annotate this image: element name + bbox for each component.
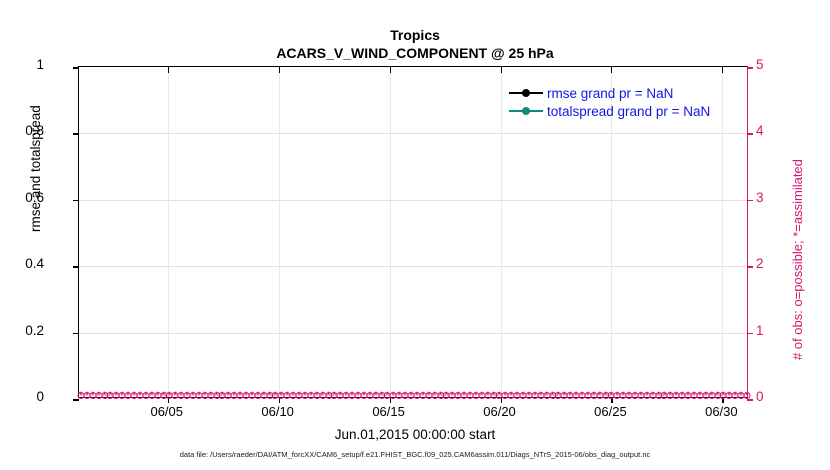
obs-assimilated-marker: * (295, 391, 304, 402)
obs-possible-marker (243, 392, 250, 399)
obs-assimilated-marker: * (560, 391, 569, 402)
obs-possible-marker (360, 392, 367, 399)
obs-possible-marker (95, 392, 102, 399)
obs-possible-marker (290, 392, 297, 399)
obs-assimilated-marker: * (289, 391, 298, 402)
obs-possible-marker (195, 392, 202, 399)
obs-assimilated-marker: * (194, 391, 203, 402)
obs-possible-marker (443, 392, 450, 399)
obs-assimilated-marker: * (572, 391, 581, 402)
obs-assimilated-marker: * (548, 391, 557, 402)
right-tick-mark (747, 333, 753, 335)
obs-possible-marker (573, 392, 580, 399)
obs-assimilated-marker: * (489, 391, 498, 402)
left-tick-mark (73, 399, 79, 401)
obs-assimilated-marker: * (654, 391, 663, 402)
obs-assimilated-marker: * (424, 391, 433, 402)
obs-possible-marker (189, 392, 196, 399)
obs-assimilated-marker: * (542, 391, 551, 402)
obs-possible-marker (154, 392, 161, 399)
obs-possible-marker (225, 392, 232, 399)
obs-possible-marker (172, 392, 179, 399)
left-tick-label: 0.4 (25, 256, 44, 271)
obs-assimilated-marker: * (100, 391, 109, 402)
obs-possible-marker (449, 392, 456, 399)
obs-possible-marker (567, 392, 574, 399)
obs-assimilated-marker: * (300, 391, 309, 402)
obs-possible-marker (337, 392, 344, 399)
obs-assimilated-marker: * (141, 391, 150, 402)
obs-assimilated-marker: * (253, 391, 262, 402)
x-tick-label: 06/10 (261, 404, 294, 419)
obs-assimilated-marker: * (477, 391, 486, 402)
obs-possible-marker (738, 392, 745, 399)
obs-possible-marker (649, 392, 656, 399)
obs-assimilated-marker: * (501, 391, 510, 402)
right-tick-label: 2 (756, 256, 764, 271)
obs-possible-marker (113, 392, 120, 399)
legend-label: totalspread grand pr = NaN (547, 104, 710, 119)
obs-assimilated-marker: * (177, 391, 186, 402)
x-tick-mark-top (501, 67, 502, 73)
obs-possible-marker (478, 392, 485, 399)
obs-assimilated-marker: * (312, 391, 321, 402)
obs-possible-marker (266, 392, 273, 399)
right-axis-title: # of obs: o=possible; *=assimilated (790, 159, 805, 360)
gridline (279, 67, 280, 397)
obs-assimilated-marker: * (507, 391, 516, 402)
obs-assimilated-marker: * (519, 391, 528, 402)
obs-assimilated-marker: * (418, 391, 427, 402)
obs-possible-marker (136, 392, 143, 399)
right-tick-label: 1 (756, 323, 764, 338)
obs-possible-marker (696, 392, 703, 399)
obs-possible-marker (213, 392, 220, 399)
obs-possible-marker (543, 392, 550, 399)
obs-assimilated-marker: * (206, 391, 215, 402)
obs-possible-marker (248, 392, 255, 399)
x-tick-label: 06/15 (372, 404, 405, 419)
obs-assimilated-marker: * (465, 391, 474, 402)
obs-assimilated-marker: * (359, 391, 368, 402)
x-tick-mark-top (168, 67, 169, 73)
obs-possible-marker (78, 392, 85, 399)
obs-possible-marker (301, 392, 308, 399)
obs-possible-marker (319, 392, 326, 399)
obs-assimilated-marker: * (577, 391, 586, 402)
data-file-footer: data file: /Users/raeder/DAI/ATM_forcXX/… (0, 450, 830, 459)
obs-possible-marker (148, 392, 155, 399)
left-tick-mark (73, 333, 79, 335)
obs-assimilated-marker: * (619, 391, 628, 402)
obs-possible-marker (402, 392, 409, 399)
obs-assimilated-marker: * (589, 391, 598, 402)
x-tick-label: 06/20 (483, 404, 516, 419)
obs-assimilated-marker: * (147, 391, 156, 402)
obs-assimilated-marker: * (153, 391, 162, 402)
obs-possible-marker (372, 392, 379, 399)
obs-possible-marker (331, 392, 338, 399)
obs-possible-marker (549, 392, 556, 399)
obs-possible-marker (667, 392, 674, 399)
obs-assimilated-marker: * (689, 391, 698, 402)
obs-possible-marker (408, 392, 415, 399)
obs-possible-marker (219, 392, 226, 399)
obs-assimilated-marker: * (601, 391, 610, 402)
obs-possible-marker (596, 392, 603, 399)
obs-possible-marker (466, 392, 473, 399)
obs-possible-marker (555, 392, 562, 399)
obs-assimilated-marker: * (265, 391, 274, 402)
legend-item[interactable]: totalspread grand pr = NaN (509, 102, 745, 120)
obs-assimilated-marker: * (407, 391, 416, 402)
obs-assimilated-marker: * (324, 391, 333, 402)
obs-possible-marker (531, 392, 538, 399)
obs-possible-marker (207, 392, 214, 399)
obs-possible-marker (637, 392, 644, 399)
x-tick-mark (279, 397, 281, 403)
obs-possible-marker (673, 392, 680, 399)
obs-assimilated-marker: * (412, 391, 421, 402)
obs-possible-marker (184, 392, 191, 399)
obs-assimilated-marker: * (230, 391, 239, 402)
x-tick-mark (390, 397, 392, 403)
obs-possible-marker (413, 392, 420, 399)
obs-possible-marker (160, 392, 167, 399)
obs-possible-marker (702, 392, 709, 399)
obs-assimilated-marker: * (460, 391, 469, 402)
obs-assimilated-marker: * (236, 391, 245, 402)
obs-possible-marker (632, 392, 639, 399)
obs-possible-marker (661, 392, 668, 399)
obs-possible-marker (520, 392, 527, 399)
obs-assimilated-marker: * (135, 391, 144, 402)
obs-possible-marker (590, 392, 597, 399)
obs-possible-marker (419, 392, 426, 399)
obs-possible-marker (313, 392, 320, 399)
obs-possible-marker (455, 392, 462, 399)
obs-assimilated-marker: * (354, 391, 363, 402)
obs-assimilated-marker: * (130, 391, 139, 402)
obs-possible-marker (237, 392, 244, 399)
obs-possible-marker (461, 392, 468, 399)
obs-assimilated-marker: * (306, 391, 315, 402)
chart-title-region: Tropics (0, 26, 830, 44)
x-tick-mark (501, 397, 503, 403)
obs-assimilated-marker: * (106, 391, 115, 402)
obs-assimilated-marker: * (536, 391, 545, 402)
obs-assimilated-marker: * (88, 391, 97, 402)
gridline (501, 67, 502, 397)
obs-assimilated-marker: * (583, 391, 592, 402)
left-tick-mark (73, 67, 79, 69)
obs-possible-marker (614, 392, 621, 399)
chart-title-variable: ACARS_V_WIND_COMPONENT @ 25 hPa (0, 44, 830, 62)
right-tick-label: 3 (756, 190, 764, 205)
x-tick-label: 06/25 (594, 404, 627, 419)
obs-possible-marker (378, 392, 385, 399)
obs-possible-marker (201, 392, 208, 399)
obs-assimilated-marker: * (666, 391, 675, 402)
obs-assimilated-marker: * (678, 391, 687, 402)
obs-assimilated-marker: * (454, 391, 463, 402)
obs-possible-marker (131, 392, 138, 399)
obs-possible-marker (561, 392, 568, 399)
obs-possible-marker (349, 392, 356, 399)
legend-label: rmse grand pr = NaN (547, 86, 673, 101)
obs-assimilated-marker: * (554, 391, 563, 402)
obs-assimilated-marker: * (112, 391, 121, 402)
obs-assimilated-marker: * (159, 391, 168, 402)
plot-area: ****************************************… (78, 66, 748, 398)
x-tick-mark (722, 397, 724, 403)
obs-possible-marker (425, 392, 432, 399)
obs-possible-marker (643, 392, 650, 399)
obs-possible-marker (602, 392, 609, 399)
obs-assimilated-marker: * (188, 391, 197, 402)
obs-assimilated-marker: * (118, 391, 127, 402)
obs-possible-marker (307, 392, 314, 399)
obs-assimilated-marker: * (171, 391, 180, 402)
obs-possible-marker (732, 392, 739, 399)
left-tick-mark (73, 200, 79, 202)
obs-possible-marker (525, 392, 532, 399)
x-tick-label: 06/05 (150, 404, 183, 419)
gridline (79, 133, 747, 134)
obs-assimilated-marker: * (124, 391, 133, 402)
obs-assimilated-marker: * (642, 391, 651, 402)
obs-possible-marker (125, 392, 132, 399)
obs-possible-marker (178, 392, 185, 399)
left-tick-label: 1 (36, 57, 44, 72)
obs-assimilated-marker: * (200, 391, 209, 402)
obs-possible-marker (484, 392, 491, 399)
obs-assimilated-marker: * (695, 391, 704, 402)
obs-possible-marker (620, 392, 627, 399)
x-tick-label: 06/30 (705, 404, 738, 419)
obs-possible-marker (584, 392, 591, 399)
obs-assimilated-marker: * (348, 391, 357, 402)
obs-assimilated-marker: * (430, 391, 439, 402)
obs-assimilated-marker: * (701, 391, 710, 402)
obs-possible-marker (744, 392, 751, 399)
obs-assimilated-marker: * (648, 391, 657, 402)
gridline (168, 67, 169, 397)
obs-assimilated-marker: * (336, 391, 345, 402)
gridline (79, 266, 747, 267)
obs-assimilated-marker: * (625, 391, 634, 402)
obs-possible-marker (437, 392, 444, 399)
obs-assimilated-marker: * (94, 391, 103, 402)
obs-assimilated-marker: * (524, 391, 533, 402)
obs-assimilated-marker: * (713, 391, 722, 402)
right-tick-label: 4 (756, 123, 764, 138)
obs-assimilated-marker: * (513, 391, 522, 402)
obs-assimilated-marker: * (471, 391, 480, 402)
obs-assimilated-marker: * (212, 391, 221, 402)
obs-possible-marker (537, 392, 544, 399)
gridline (79, 200, 747, 201)
obs-possible-marker (284, 392, 291, 399)
obs-assimilated-marker: * (442, 391, 451, 402)
obs-possible-marker (366, 392, 373, 399)
obs-possible-marker (431, 392, 438, 399)
obs-count-marker-series: ****************************************… (79, 391, 747, 402)
obs-possible-marker (83, 392, 90, 399)
obs-possible-marker (708, 392, 715, 399)
obs-possible-marker (655, 392, 662, 399)
obs-assimilated-marker: * (631, 391, 640, 402)
obs-assimilated-marker: * (371, 391, 380, 402)
x-tick-mark (611, 397, 613, 403)
obs-possible-marker (107, 392, 114, 399)
x-tick-mark-top (722, 67, 723, 73)
obs-possible-marker (685, 392, 692, 399)
gridline (79, 333, 747, 334)
obs-possible-marker (101, 392, 108, 399)
obs-assimilated-marker: * (448, 391, 457, 402)
obs-assimilated-marker: * (495, 391, 504, 402)
obs-possible-marker (231, 392, 238, 399)
legend-item[interactable]: rmse grand pr = NaN (509, 84, 745, 102)
obs-possible-marker (296, 392, 303, 399)
obs-assimilated-marker: * (660, 391, 669, 402)
x-axis-title: Jun.01,2015 00:00:00 start (0, 427, 830, 442)
obs-assimilated-marker: * (242, 391, 251, 402)
left-tick-mark (73, 133, 79, 135)
obs-assimilated-marker: * (318, 391, 327, 402)
right-tick-mark (747, 200, 753, 202)
obs-possible-marker (325, 392, 332, 399)
chart-legend: rmse grand pr = NaNtotalspread grand pr … (509, 84, 745, 120)
obs-possible-marker (260, 392, 267, 399)
obs-assimilated-marker: * (247, 391, 256, 402)
obs-possible-marker (343, 392, 350, 399)
right-tick-mark (747, 266, 753, 268)
obs-assimilated-marker: * (259, 391, 268, 402)
obs-possible-marker (396, 392, 403, 399)
obs-assimilated-marker: * (395, 391, 404, 402)
obs-assimilated-marker: * (365, 391, 374, 402)
obs-possible-marker (89, 392, 96, 399)
x-tick-mark-top (390, 67, 391, 73)
obs-assimilated-marker: * (684, 391, 693, 402)
left-tick-label: 0.2 (25, 323, 44, 338)
obs-possible-marker (355, 392, 362, 399)
obs-assimilated-marker: * (436, 391, 445, 402)
left-axis-title: rmse and totalspread (28, 105, 43, 232)
obs-assimilated-marker: * (566, 391, 575, 402)
obs-possible-marker (254, 392, 261, 399)
obs-possible-marker (472, 392, 479, 399)
obs-possible-marker (690, 392, 697, 399)
obs-assimilated-marker: * (401, 391, 410, 402)
obs-possible-marker (490, 392, 497, 399)
obs-possible-marker (508, 392, 515, 399)
right-tick-mark (747, 133, 753, 135)
obs-possible-marker (714, 392, 721, 399)
obs-assimilated-marker: * (737, 391, 746, 402)
obs-possible-marker (514, 392, 521, 399)
x-tick-mark (168, 397, 170, 403)
obs-assimilated-marker: * (672, 391, 681, 402)
legend-line-marker-icon (509, 105, 543, 117)
left-tick-label: 0 (36, 389, 44, 404)
chart-title-block: Tropics ACARS_V_WIND_COMPONENT @ 25 hPa (0, 26, 830, 62)
obs-assimilated-marker: * (707, 391, 716, 402)
obs-assimilated-marker: * (183, 391, 192, 402)
gridline (390, 67, 391, 397)
obs-assimilated-marker: * (636, 391, 645, 402)
right-tick-label: 5 (756, 57, 764, 72)
obs-possible-marker (142, 392, 149, 399)
obs-possible-marker (578, 392, 585, 399)
obs-possible-marker (726, 392, 733, 399)
obs-assimilated-marker: * (283, 391, 292, 402)
right-tick-mark (747, 399, 753, 401)
obs-assimilated-marker: * (377, 391, 386, 402)
obs-possible-marker (626, 392, 633, 399)
obs-assimilated-marker: * (613, 391, 622, 402)
obs-assimilated-marker: * (224, 391, 233, 402)
right-tick-mark (747, 67, 753, 69)
left-tick-mark (73, 266, 79, 268)
obs-assimilated-marker: * (731, 391, 740, 402)
x-tick-mark-top (611, 67, 612, 73)
obs-assimilated-marker: * (165, 391, 174, 402)
obs-assimilated-marker: * (330, 391, 339, 402)
obs-assimilated-marker: * (218, 391, 227, 402)
obs-assimilated-marker: * (725, 391, 734, 402)
legend-line-marker-icon (509, 87, 543, 99)
obs-assimilated-marker: * (530, 391, 539, 402)
obs-assimilated-marker: * (595, 391, 604, 402)
obs-assimilated-marker: * (82, 391, 91, 402)
obs-possible-marker (502, 392, 509, 399)
obs-assimilated-marker: * (342, 391, 351, 402)
obs-possible-marker (119, 392, 126, 399)
x-tick-mark-top (279, 67, 280, 73)
obs-assimilated-marker: * (483, 391, 492, 402)
obs-possible-marker (679, 392, 686, 399)
right-tick-label: 0 (756, 389, 764, 404)
